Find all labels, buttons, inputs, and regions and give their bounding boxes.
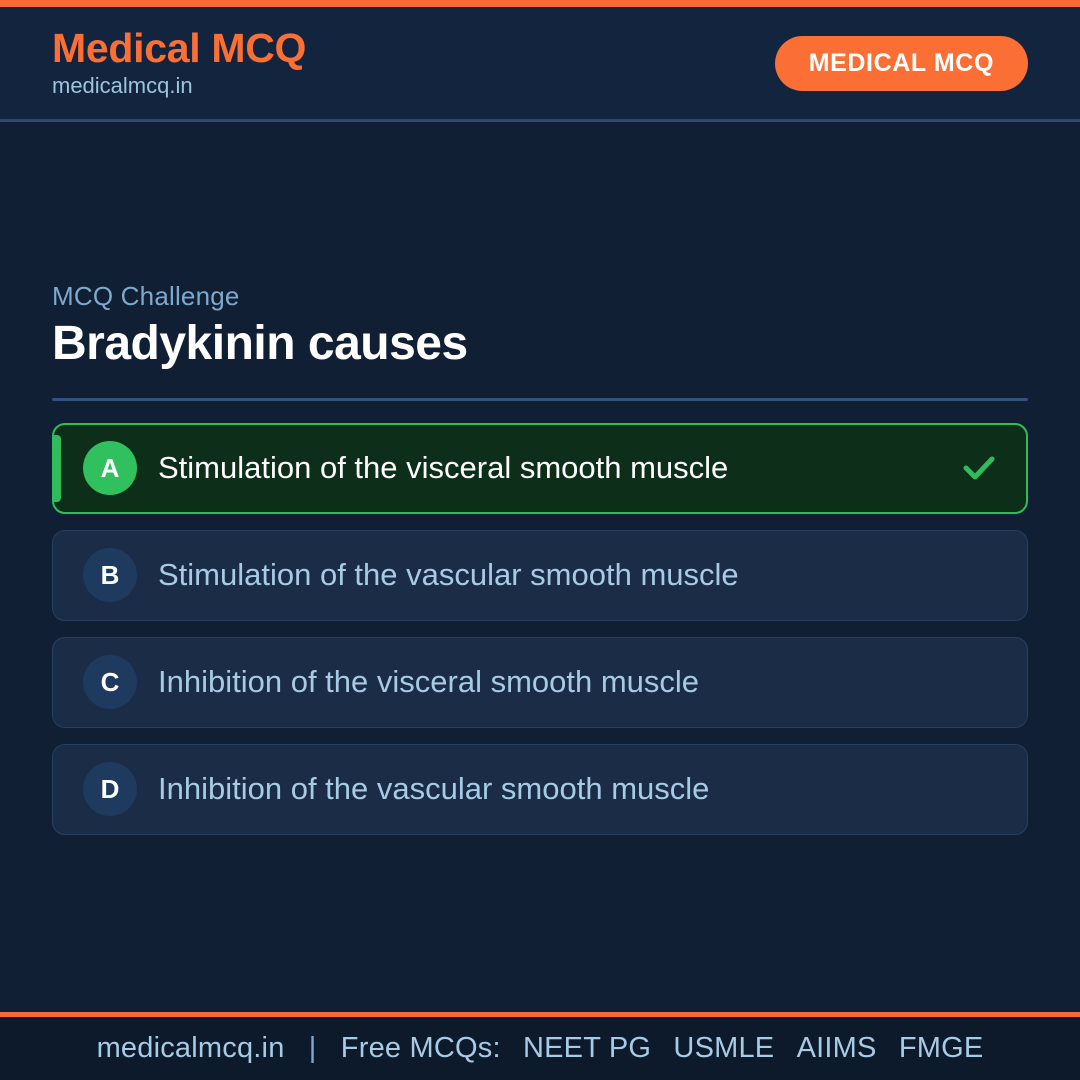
- option-text: Stimulation of the vascular smooth muscl…: [158, 556, 1001, 595]
- footer-exam-list: NEET PG USMLE AIIMS FMGE: [509, 1032, 983, 1064]
- option-c[interactable]: C Inhibition of the visceral smooth musc…: [52, 637, 1028, 728]
- mcq-card: Medical MCQ medicalmcq.in MEDICAL MCQ MC…: [0, 0, 1080, 1080]
- main-content: MCQ Challenge Bradykinin causes A Stimul…: [0, 122, 1080, 1012]
- option-text: Inhibition of the visceral smooth muscle: [158, 663, 1001, 702]
- option-b[interactable]: B Stimulation of the vascular smooth mus…: [52, 530, 1028, 621]
- option-letter-badge: D: [83, 762, 137, 816]
- brand-block: Medical MCQ medicalmcq.in: [52, 26, 306, 100]
- option-d[interactable]: D Inhibition of the vascular smooth musc…: [52, 744, 1028, 835]
- brand-title: Medical MCQ: [52, 26, 306, 70]
- footer-text: medicalmcq.in | Free MCQs: NEET PG USMLE…: [97, 1032, 984, 1065]
- option-letter-badge: B: [83, 548, 137, 602]
- footer-exam: USMLE: [673, 1032, 774, 1064]
- header-badge: MEDICAL MCQ: [775, 36, 1028, 91]
- option-letter-badge: C: [83, 655, 137, 709]
- option-text: Inhibition of the vascular smooth muscle: [158, 770, 1001, 809]
- page-header: Medical MCQ medicalmcq.in MEDICAL MCQ: [0, 7, 1080, 122]
- footer-exam: FMGE: [899, 1032, 984, 1064]
- title-divider: [52, 398, 1028, 401]
- eyebrow-label: MCQ Challenge: [52, 281, 1028, 312]
- footer-separator: |: [309, 1032, 317, 1065]
- top-accent-strip: [0, 0, 1080, 7]
- options-list: A Stimulation of the visceral smooth mus…: [52, 423, 1028, 835]
- option-a[interactable]: A Stimulation of the visceral smooth mus…: [52, 423, 1028, 514]
- page-title: Bradykinin causes: [52, 316, 1028, 371]
- page-footer: medicalmcq.in | Free MCQs: NEET PG USMLE…: [0, 1012, 1080, 1080]
- footer-exam: NEET PG: [523, 1032, 651, 1064]
- correct-accent-bar: [54, 435, 61, 502]
- option-text: Stimulation of the visceral smooth muscl…: [158, 449, 946, 488]
- footer-tagline: Free MCQs:: [341, 1032, 501, 1064]
- question-block: MCQ Challenge Bradykinin causes A Stimul…: [52, 281, 1028, 834]
- option-letter-badge: A: [83, 441, 137, 495]
- brand-subtitle: medicalmcq.in: [52, 72, 306, 100]
- check-icon: [958, 447, 1000, 489]
- footer-site: medicalmcq.in: [97, 1032, 285, 1064]
- footer-exam: AIIMS: [797, 1032, 877, 1064]
